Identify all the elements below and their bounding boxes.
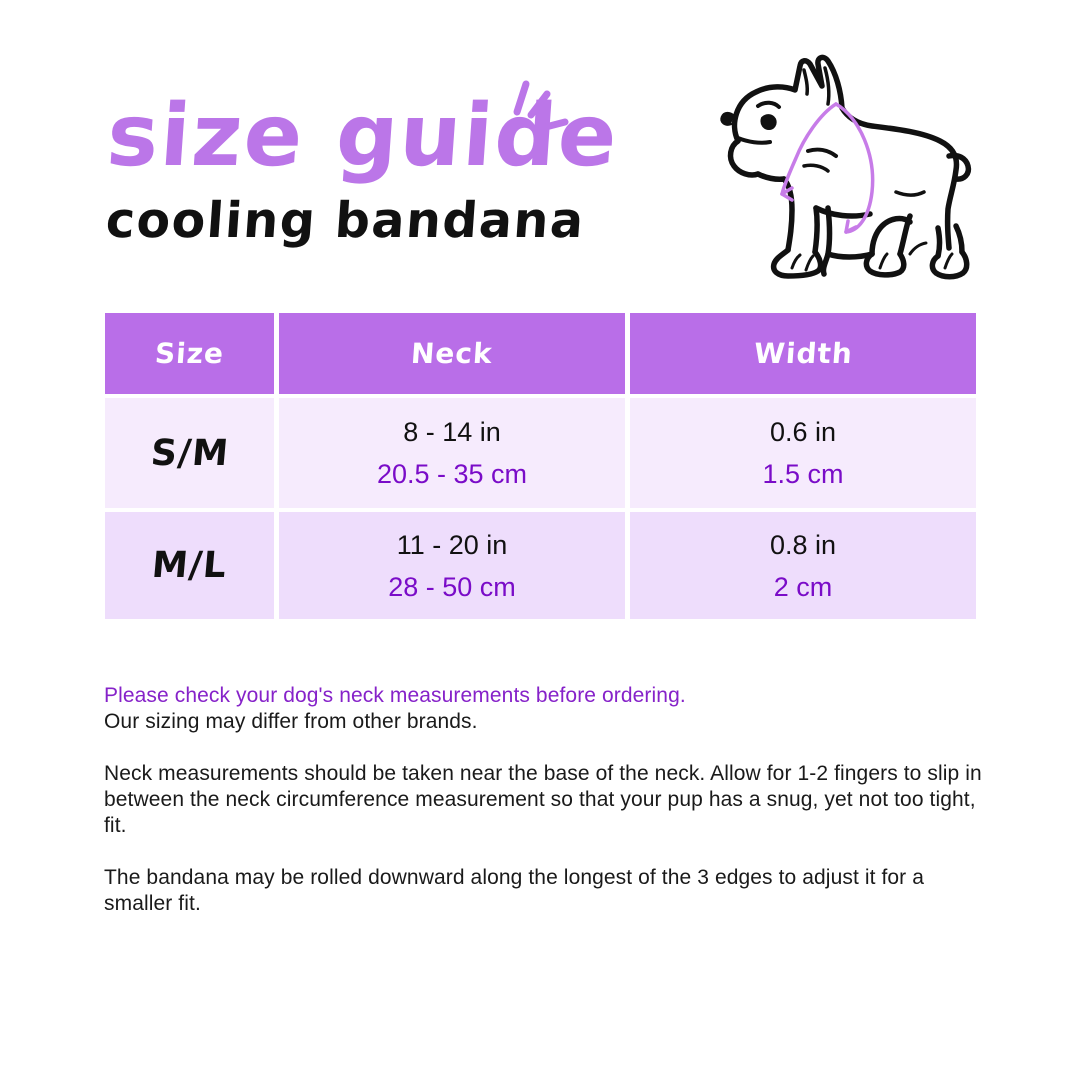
cell-width-sm: 0.6 in 1.5 cm <box>630 398 976 508</box>
cell-size-ml: M/L <box>105 512 274 619</box>
notes-section: Please check your dog's neck measurement… <box>104 683 984 917</box>
table-header-row: Size Neck Width <box>105 313 975 394</box>
width-inches-sm: 0.6 in <box>770 415 836 449</box>
note-roll-adjust-text: The bandana may be rolled downward along… <box>104 865 984 917</box>
note-spacer <box>104 735 984 761</box>
table-row: M/L 11 - 20 in 28 - 50 cm 0.8 in 2 cm <box>105 512 975 619</box>
size-label-sm: S/M <box>149 433 230 474</box>
table-row: S/M 8 - 14 in 20.5 - 35 cm 0.6 in 1.5 cm <box>105 398 975 508</box>
column-header-size-label: Size <box>154 337 225 370</box>
width-cm-sm: 1.5 cm <box>762 457 843 491</box>
neck-inches-ml: 11 - 20 in <box>397 528 508 562</box>
neck-cm-ml: 28 - 50 cm <box>388 570 516 604</box>
sparkle-lines-icon <box>492 78 572 158</box>
cell-size-sm: S/M <box>105 398 274 508</box>
table-header-cell-width: Width <box>630 313 976 394</box>
page-subtitle: cooling bandana <box>104 192 578 250</box>
note-highlight-text: Please check your dog's neck measurement… <box>104 683 984 709</box>
neck-cm-sm: 20.5 - 35 cm <box>377 457 527 491</box>
column-header-neck-label: Neck <box>410 337 494 370</box>
column-header-width-label: Width <box>752 337 853 370</box>
note-sizing-differs-text: Our sizing may differ from other brands. <box>104 709 984 735</box>
cell-width-ml: 0.8 in 2 cm <box>630 512 976 619</box>
header-section: size guide cooling bandana <box>0 0 1080 295</box>
table-header-cell-neck: Neck <box>279 313 625 394</box>
note-spacer <box>104 839 984 865</box>
width-inches-ml: 0.8 in <box>770 528 836 562</box>
note-block-1: Please check your dog's neck measurement… <box>104 683 984 735</box>
size-chart-table: Size Neck Width S/M 8 - 14 in 20.5 - 35 … <box>105 313 975 619</box>
size-guide-page: size guide cooling bandana <box>0 0 1080 1080</box>
cell-neck-ml: 11 - 20 in 28 - 50 cm <box>279 512 625 619</box>
size-label-ml: M/L <box>150 545 229 586</box>
neck-inches-sm: 8 - 14 in <box>403 415 501 449</box>
width-cm-ml: 2 cm <box>774 570 833 604</box>
french-bulldog-line-art-icon <box>700 46 990 286</box>
table-header-cell-size: Size <box>105 313 274 394</box>
cell-neck-sm: 8 - 14 in 20.5 - 35 cm <box>279 398 625 508</box>
note-measure-instructions-text: Neck measurements should be taken near t… <box>104 761 984 839</box>
